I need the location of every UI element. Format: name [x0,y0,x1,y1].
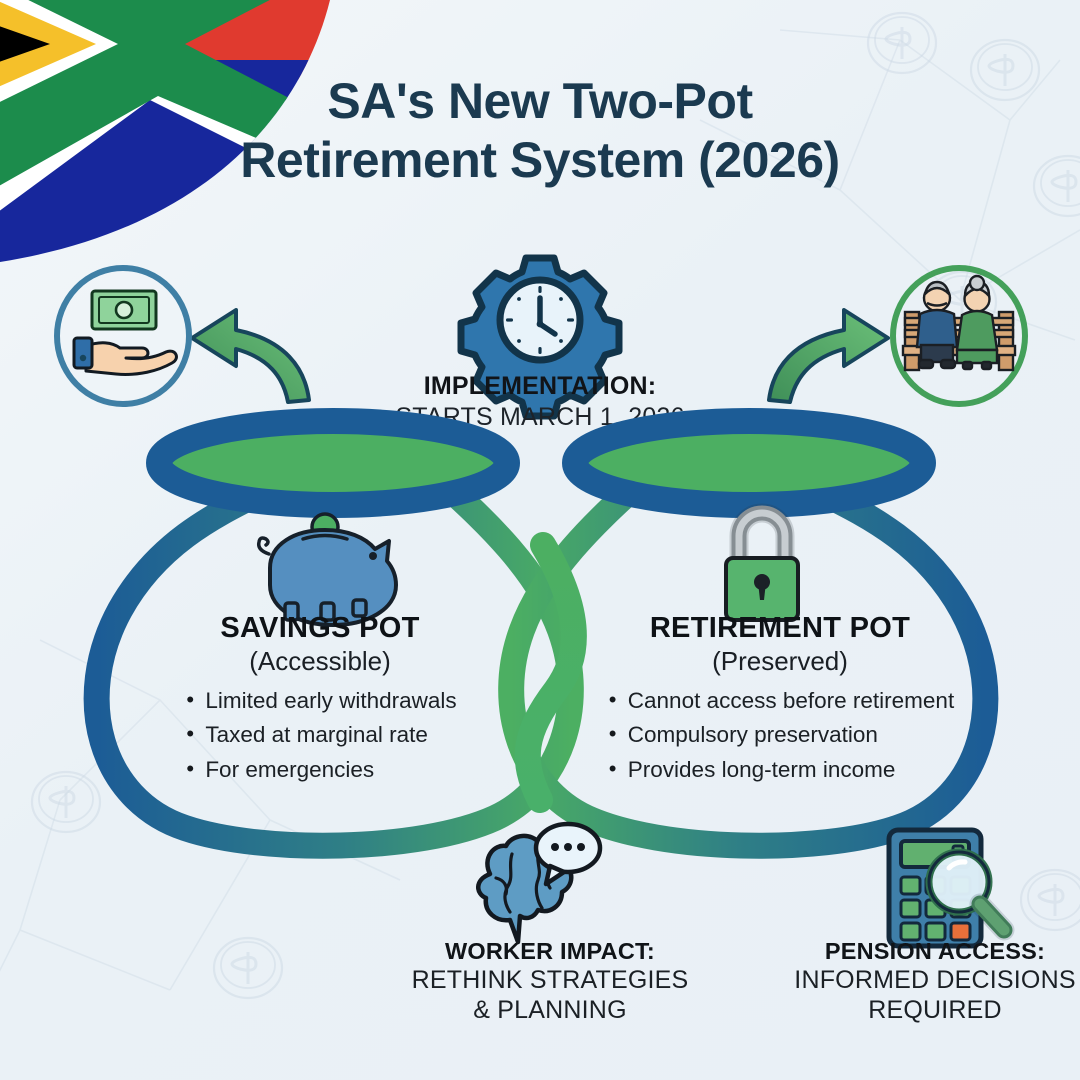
pot-interlock-link [528,545,574,800]
savings-pot-title: SAVINGS POT [130,612,510,645]
page-title: SA's New Two-Pot Retirement System (2026… [0,72,1080,190]
calculator-magnifier-icon [889,830,1004,946]
list-item: For emergencies [183,755,456,785]
elderly-couple-badge [893,268,1025,404]
implementation-heading: IMPLEMENTATION: [340,372,740,401]
list-item: Limited early withdrawals [183,686,456,716]
retirement-pot-text: RETIREMENT POT (Preserved) Cannot access… [570,612,990,789]
infographic-canvas: SA's New Two-Pot Retirement System (2026… [0,0,1080,1080]
curved-arrow-right-icon [769,310,888,402]
list-item: Provides long-term income [606,755,954,785]
implementation-subtext: STARTS MARCH 1, 2026 [340,403,740,432]
brain-speech-bubble-icon [478,824,600,942]
list-item: Compulsory preservation [606,720,954,750]
savings-pot-subtitle: (Accessible) [130,646,510,677]
piggy-bank-icon [259,514,396,625]
list-item: Taxed at marginal rate [183,720,456,750]
pension-access-heading: PENSION ACCESS: [790,938,1080,965]
retirement-pot-subtitle: (Preserved) [570,646,990,677]
pension-access-line-1: INFORMED DECISIONS [790,966,1080,995]
list-item: Cannot access before retirement [606,686,954,716]
padlock-icon [726,513,798,620]
worker-impact-caption: WORKER IMPACT: RETHINK STRATEGIES & PLAN… [375,938,725,1024]
hand-holding-cash-badge [57,268,189,404]
savings-pot-text: SAVINGS POT (Accessible) Limited early w… [130,612,510,789]
elderly-couple-on-bench-icon [903,276,1015,370]
retirement-pot-title: RETIREMENT POT [570,612,990,645]
worker-impact-line-2: & PLANNING [375,996,725,1025]
title-line-1: SA's New Two-Pot [327,73,752,129]
pension-access-caption: PENSION ACCESS: INFORMED DECISIONS REQUI… [790,938,1080,1024]
savings-pot-bullets: Limited early withdrawals Taxed at margi… [183,686,456,789]
curved-arrow-left-icon [192,310,309,402]
implementation-caption: IMPLEMENTATION: STARTS MARCH 1, 2026 [340,372,740,432]
hand-holding-cash-icon [74,291,176,374]
title-line-2: Retirement System (2026) [0,131,1080,190]
retirement-pot-bullets: Cannot access before retirement Compulso… [606,686,954,789]
worker-impact-line-1: RETHINK STRATEGIES [375,966,725,995]
pension-access-line-2: REQUIRED [790,996,1080,1025]
worker-impact-heading: WORKER IMPACT: [375,938,725,965]
